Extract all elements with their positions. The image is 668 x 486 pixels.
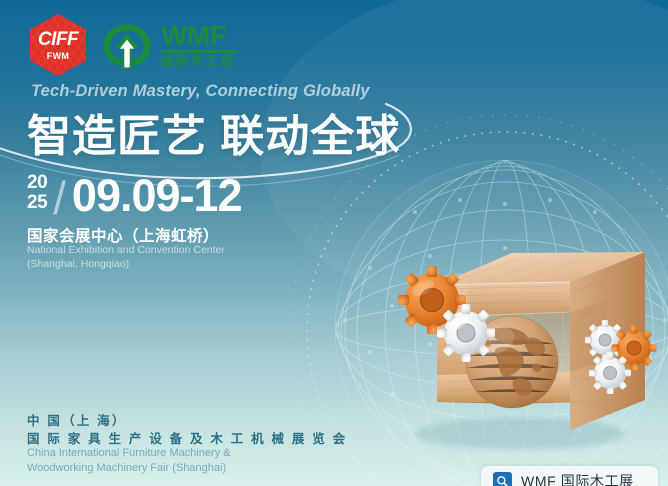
ciff-logo-main: CIFF bbox=[38, 30, 78, 49]
ciff-logo[interactable]: CIFF FWM bbox=[30, 14, 86, 76]
date-range: 09.09-12 bbox=[72, 173, 242, 218]
arrow-in-circle-icon bbox=[100, 19, 154, 71]
poster-canvas: CIFF FWM WMF 国际木工展 Tech-Driven Mastery, … bbox=[0, 0, 668, 486]
badge-label: WMF 国际木工展 bbox=[521, 471, 634, 486]
search-icon bbox=[493, 472, 512, 486]
footer-chinese-line1: 中 国（上 海） bbox=[27, 410, 127, 429]
year-bottom: 25 bbox=[27, 193, 47, 212]
wmf-title: WMF bbox=[161, 23, 236, 49]
wmf-account-badge[interactable]: WMF 国际木工展 bbox=[481, 466, 658, 486]
wmf-chinese-name: 国际木工展 bbox=[161, 55, 236, 68]
footer-chinese-line2: 国 际 家 具 生 产 设 备 及 木 工 机 械 展 览 会 bbox=[27, 428, 347, 447]
date-block: 20 25 / 09.09-12 bbox=[27, 172, 242, 218]
wmf-divider bbox=[161, 50, 236, 53]
headline: 智造匠艺 联动全球 bbox=[27, 100, 400, 164]
date-separator: / bbox=[53, 175, 66, 221]
gear-white-small-lower bbox=[589, 352, 631, 394]
tagline: Tech-Driven Mastery, Connecting Globally bbox=[31, 82, 370, 101]
year-stack: 20 25 bbox=[27, 173, 47, 218]
footer-english: China International Furniture Machinery … bbox=[27, 446, 231, 476]
gear-white-large bbox=[437, 304, 495, 362]
wmf-wordmark: WMF 国际木工展 bbox=[161, 23, 236, 67]
ciff-logo-sub: FWM bbox=[47, 52, 69, 61]
year-top: 20 bbox=[27, 173, 47, 192]
venue-english: National Exhibition and Convention Cente… bbox=[27, 243, 225, 271]
logo-row: CIFF FWM WMF 国际木工展 bbox=[30, 14, 236, 76]
wmf-logo[interactable]: WMF 国际木工展 bbox=[100, 19, 236, 71]
